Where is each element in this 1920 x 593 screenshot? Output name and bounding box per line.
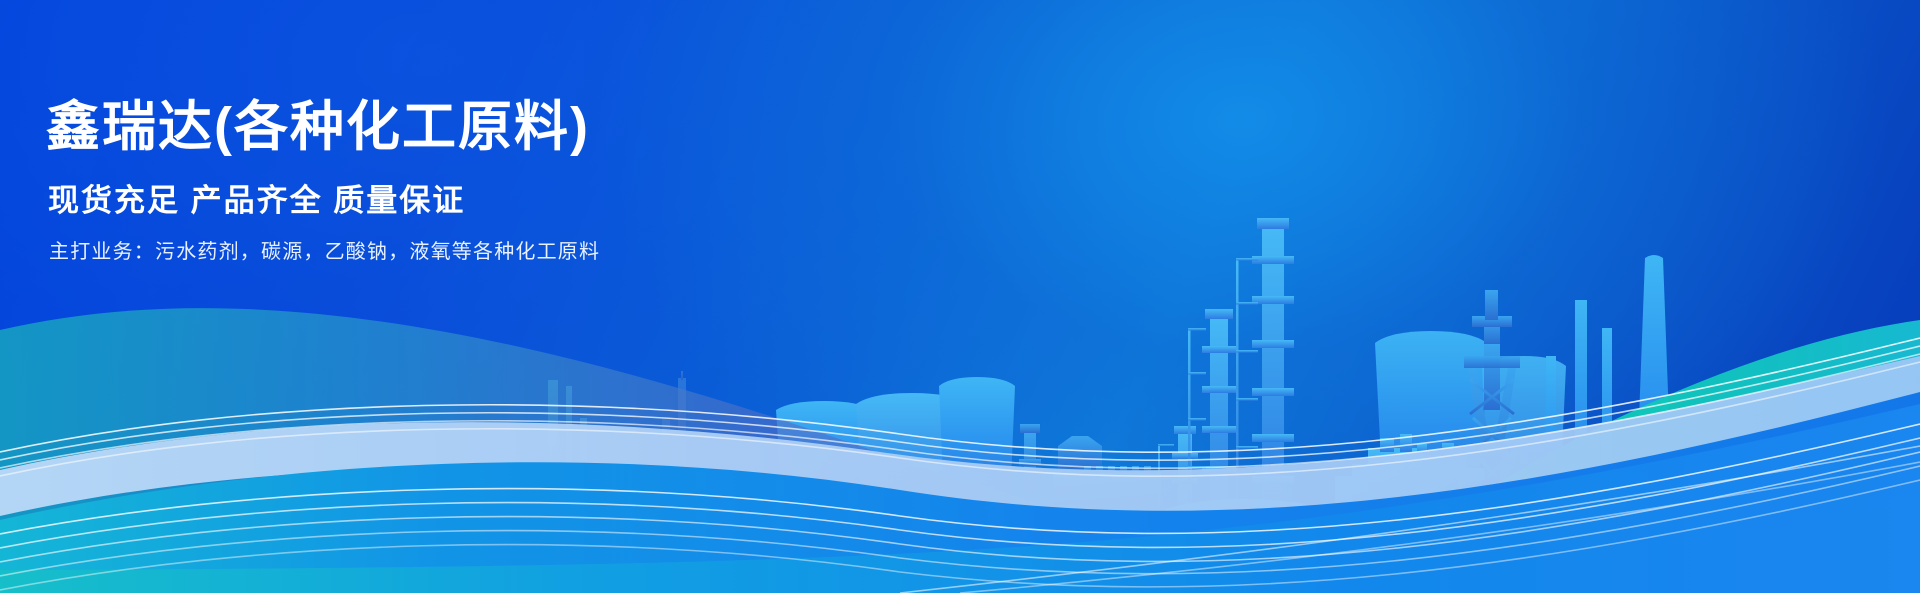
cooling-tower-1 [776, 401, 872, 500]
oil-derrick [1464, 290, 1520, 524]
business-description: 主打业务：污水药剂，碳源，乙酸钠，液氧等各种化工原料 [49, 239, 946, 265]
industrial-skyline-svg [0, 0, 1920, 593]
wave-ribbons-svg [0, 0, 1920, 593]
promo-banner: 鑫瑞达(各种化工原料) 现货充足 产品齐全 质量保证 主打业务：污水药剂，碳源，… [0, 0, 1920, 593]
wave-ribbon-pale [0, 356, 1920, 516]
wave-ribbon-violet [0, 308, 1920, 593]
page-title: 鑫瑞达(各种化工原料) [46, 96, 946, 160]
refinery-columns [1158, 218, 1335, 549]
plant-blocks-right [1335, 434, 1494, 522]
wave-line-streaks [0, 338, 1920, 593]
cooling-tower-group [776, 331, 1566, 518]
cooling-tower-5 [1482, 356, 1566, 516]
cooling-tower-2 [856, 393, 968, 504]
chimney-group-right [1546, 255, 1673, 528]
wave-ribbon-green-right [1330, 320, 1920, 593]
wave-ribbon-cyan-right [0, 404, 1920, 593]
subtitle: 现货充足 产品齐全 质量保证 [48, 182, 946, 219]
plant-structures-left [1019, 424, 1161, 505]
cooling-tower-3 [939, 377, 1015, 504]
cooling-tower-4 [1375, 331, 1487, 518]
plant-blocks-far-right [1395, 495, 1720, 528]
chimney-group-left [548, 371, 686, 474]
tapered-stack [1635, 255, 1673, 526]
headline-text-block: 鑫瑞达(各种化工原料) 现货充足 产品齐全 质量保证 主打业务：污水药剂，碳源，… [46, 96, 946, 265]
wave-ribbon-blue-main [0, 392, 1920, 593]
